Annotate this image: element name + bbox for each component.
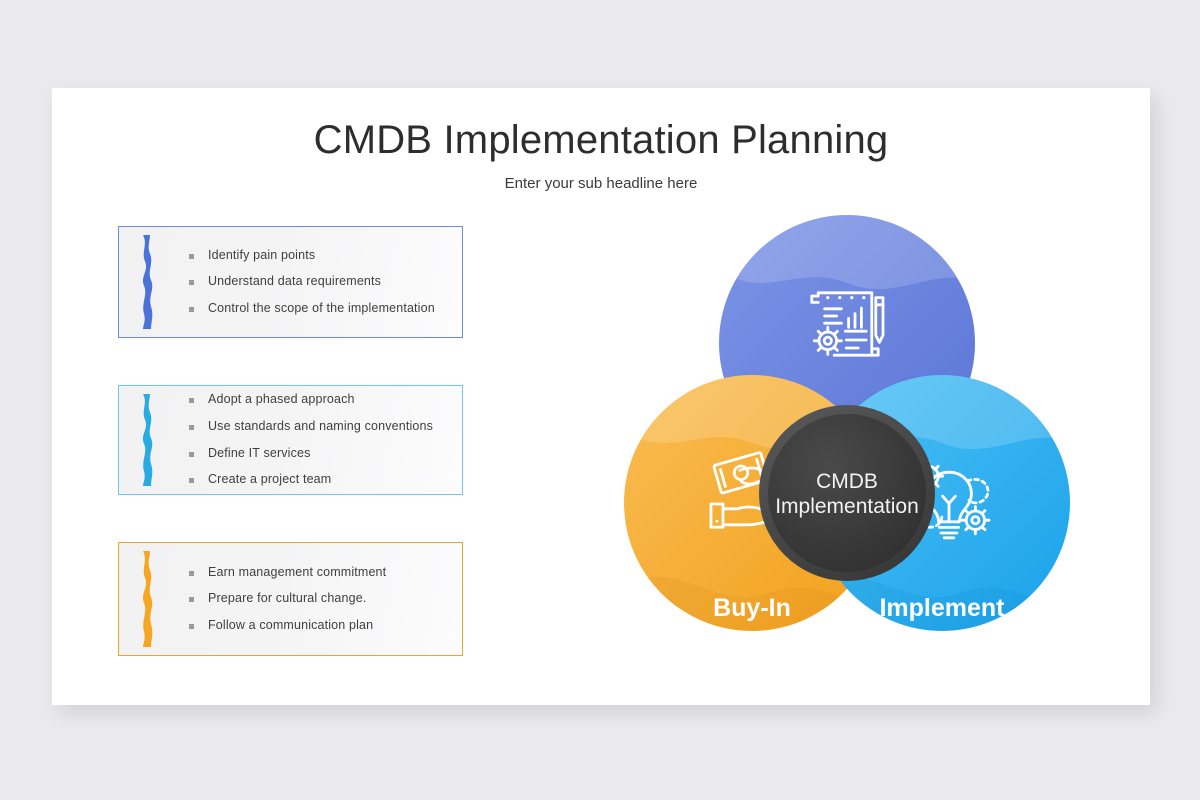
bullet-marker-icon xyxy=(189,425,194,430)
bullet-marker-icon xyxy=(189,254,194,259)
bullet-text: Control the scope of the implementation xyxy=(208,301,435,317)
bullet-text: Define IT services xyxy=(208,446,311,462)
list-item: Follow a communication plan xyxy=(189,618,452,634)
list-item: Adopt a phased approach xyxy=(189,392,452,408)
bullet-marker-icon xyxy=(189,452,194,457)
list-item: Understand data requirements xyxy=(189,274,452,290)
page-subtitle: Enter your sub headline here xyxy=(52,175,1150,192)
bullet-list: Identify pain points Understand data req… xyxy=(189,227,452,337)
bullet-marker-icon xyxy=(189,307,194,312)
page-title: CMDB Implementation Planning xyxy=(52,118,1150,163)
bullet-text: Prepare for cultural change. xyxy=(208,591,366,607)
venn-lobe-label-implement: Implement xyxy=(879,594,1005,622)
list-item: Prepare for cultural change. xyxy=(189,591,452,607)
venn-center-hub[interactable]: CMDB Implementation xyxy=(759,405,935,581)
hub-label-line2: Implementation xyxy=(775,495,919,518)
bullet-marker-icon xyxy=(189,398,194,403)
bullet-text: Use standards and naming conventions xyxy=(208,419,433,435)
bullet-marker-icon xyxy=(189,280,194,285)
bullet-text: Earn management commitment xyxy=(208,565,386,581)
wavy-ribbon-icon xyxy=(135,394,157,486)
bullet-text: Adopt a phased approach xyxy=(208,392,355,408)
bullet-marker-icon xyxy=(189,478,194,483)
bullet-card-implement[interactable]: Adopt a phased approach Use standards an… xyxy=(118,385,463,495)
bullet-text: Understand data requirements xyxy=(208,274,381,290)
list-item: Identify pain points xyxy=(189,248,452,264)
bullet-card-buy-in[interactable]: Earn management commitment Prepare for c… xyxy=(118,542,463,656)
bullet-text: Identify pain points xyxy=(208,248,315,264)
bullet-text: Create a project team xyxy=(208,472,331,488)
wavy-ribbon-icon xyxy=(135,235,157,329)
list-item: Create a project team xyxy=(189,472,452,488)
presentation-slide: CMDB Implementation Planning Enter your … xyxy=(52,88,1150,705)
bullet-marker-icon xyxy=(189,571,194,576)
list-item: Earn management commitment xyxy=(189,565,452,581)
bullet-card-plan[interactable]: Identify pain points Understand data req… xyxy=(118,226,463,338)
list-item: Control the scope of the implementation xyxy=(189,301,452,317)
hub-label-line1: CMDB xyxy=(816,470,878,493)
venn-diagram: Plan xyxy=(597,208,1097,688)
bullet-marker-icon xyxy=(189,624,194,629)
bullet-marker-icon xyxy=(189,597,194,602)
bullet-text: Follow a communication plan xyxy=(208,618,373,634)
venn-lobe-label-buy-in: Buy-In xyxy=(713,594,791,622)
wavy-ribbon-icon xyxy=(135,551,157,647)
bullet-list: Earn management commitment Prepare for c… xyxy=(189,543,452,655)
list-item: Define IT services xyxy=(189,446,452,462)
screenshot-root: CMDB Implementation Planning Enter your … xyxy=(0,0,1200,800)
bullet-list: Adopt a phased approach Use standards an… xyxy=(189,386,452,494)
list-item: Use standards and naming conventions xyxy=(189,419,452,435)
